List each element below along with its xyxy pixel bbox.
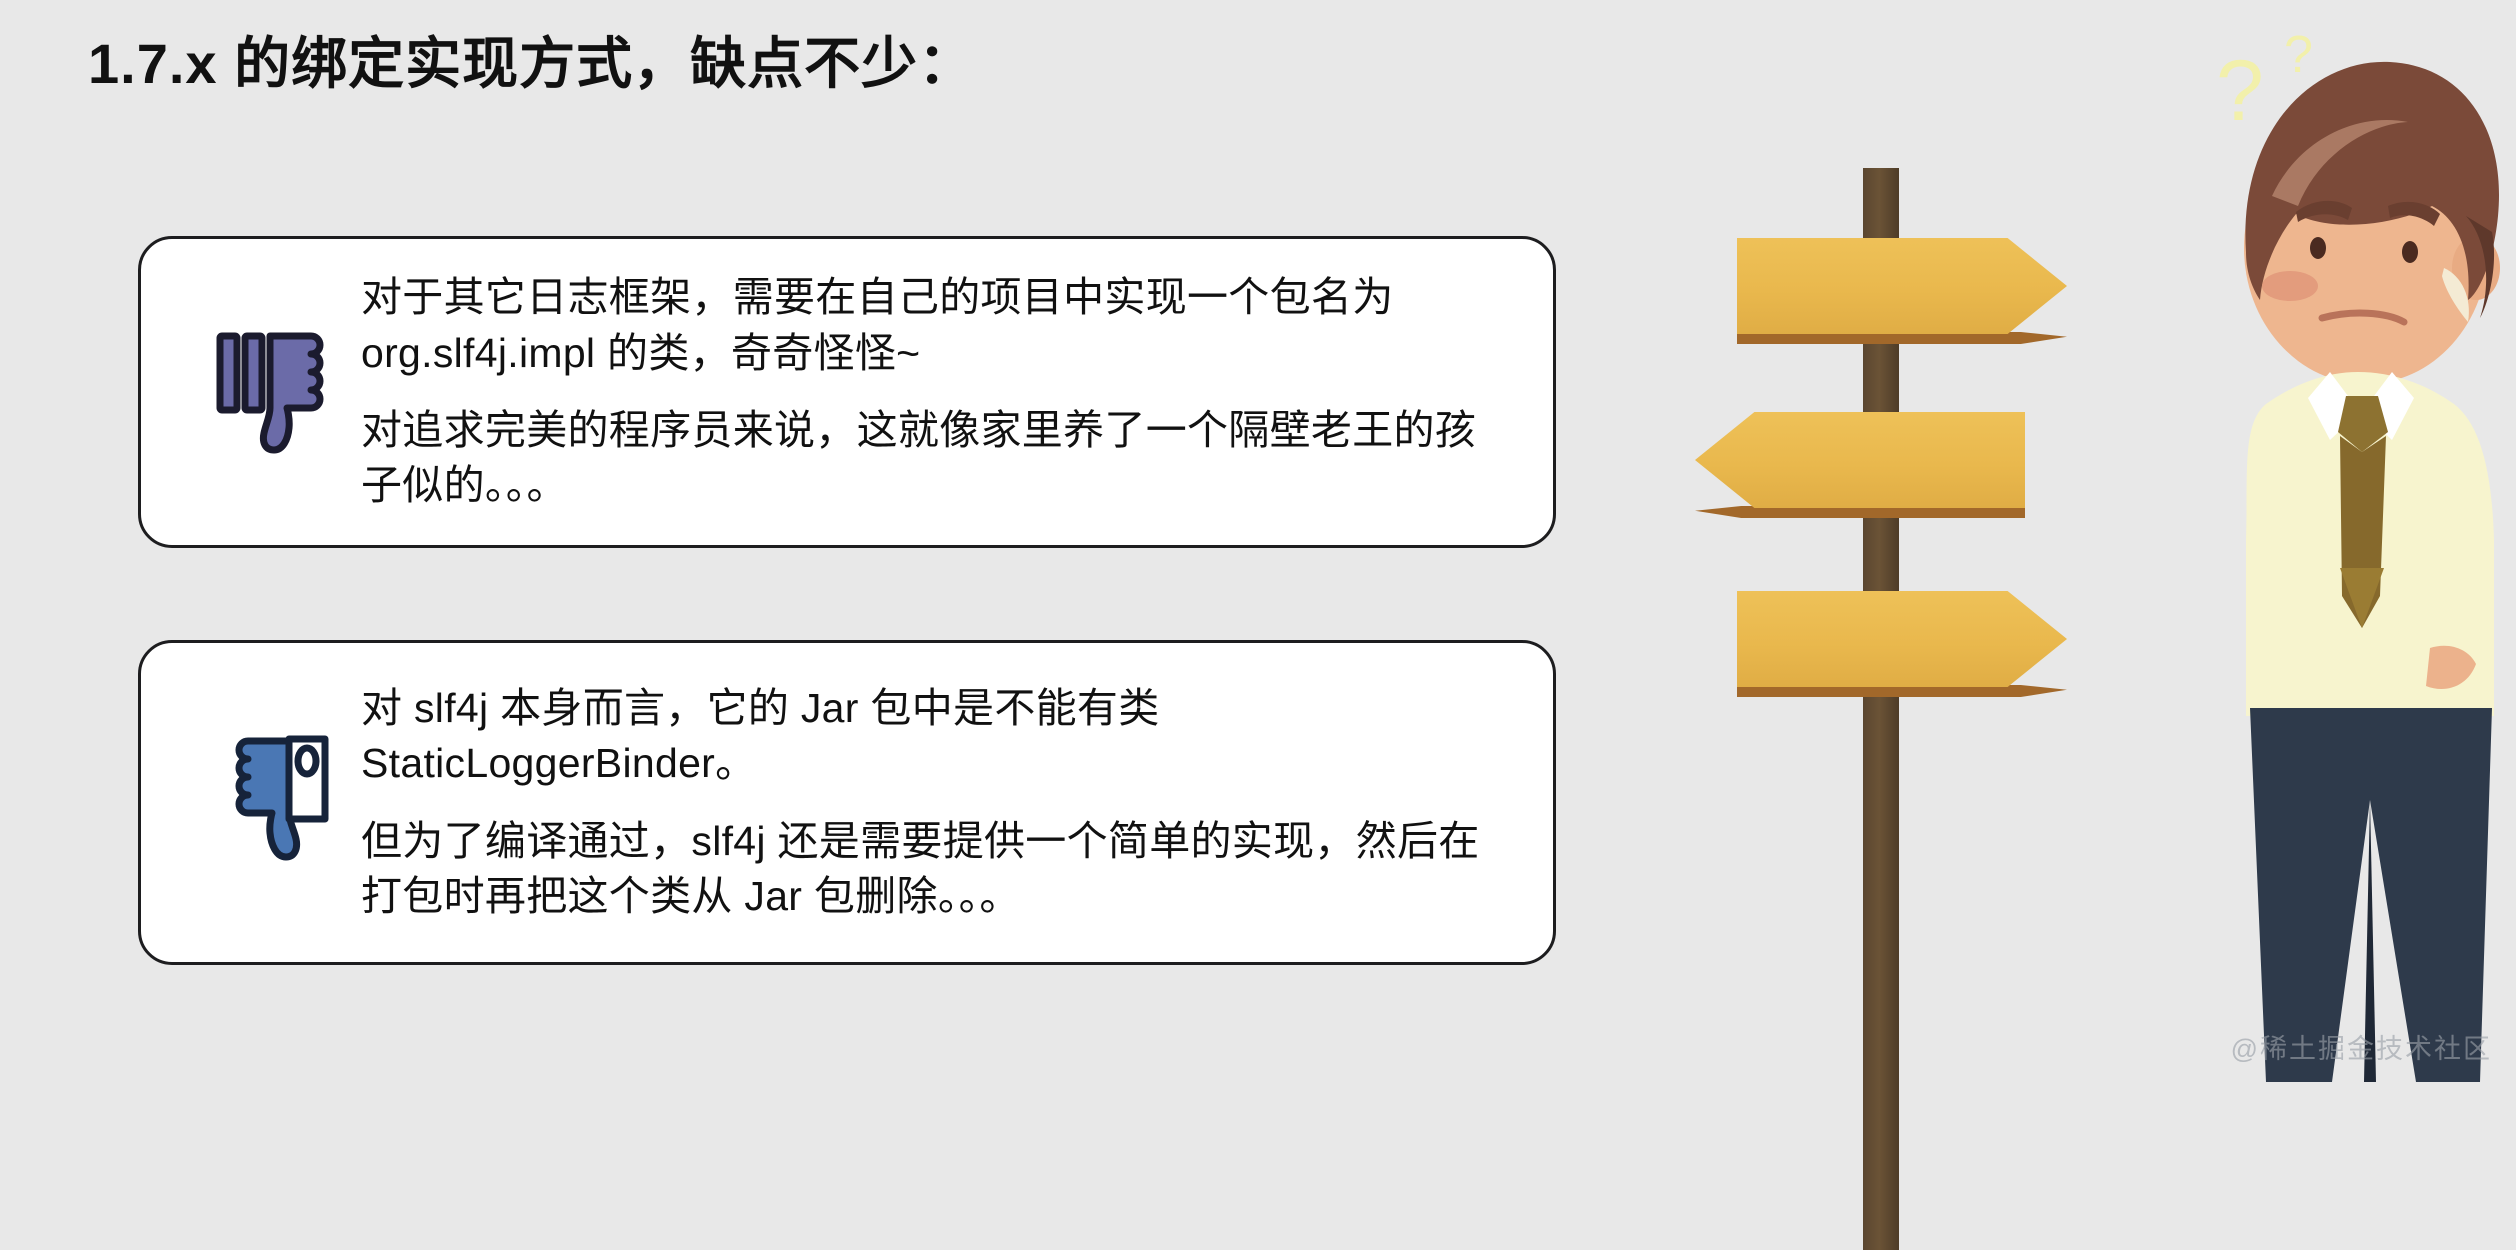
watermark: @稀土掘金技术社区 [2231, 1027, 2492, 1066]
svg-text:?: ? [2284, 26, 2313, 84]
sign-plank [1695, 412, 2025, 508]
card-2-text: 对 slf4j 本身而言，它的 Jar 包中是不能有类 StaticLogger… [361, 681, 1553, 924]
paragraph: 但为了编译通过，slf4j 还是需要提供一个简单的实现，然后在打包时再把这个类从… [361, 814, 1493, 925]
signpost-sign-top [1737, 238, 2067, 334]
card-1-text: 对于其它日志框架，需要在自己的项目中实现一个包名为 org.slf4j.impl… [361, 270, 1553, 513]
confused-man-illustration: ? ? [2180, 0, 2516, 1082]
paragraph: 对 slf4j 本身而言，它的 Jar 包中是不能有类 StaticLogger… [361, 681, 1493, 792]
paragraph: 对追求完美的程序员来说，这就像家里养了一个隔壁老王的孩子似的。。。 [361, 403, 1493, 514]
signpost-sign-bottom [1737, 591, 2067, 687]
sign-plank [1737, 238, 2067, 334]
bullet-card-2: 对 slf4j 本身而言，它的 Jar 包中是不能有类 StaticLogger… [138, 640, 1556, 965]
bullet-card-1: 对于其它日志框架，需要在自己的项目中实现一个包名为 org.slf4j.impl… [138, 236, 1556, 548]
signpost-sign-middle [1695, 412, 2025, 508]
thumbs-down-icon [209, 733, 339, 873]
svg-text:?: ? [2216, 43, 2264, 139]
thumbs-down-icon [209, 328, 339, 456]
paragraph: 对于其它日志框架，需要在自己的项目中实现一个包名为 org.slf4j.impl… [361, 270, 1493, 381]
slide-canvas: 1.7.x 的绑定实现方式，缺点不少： 对于其它日志框架，需要在自己的项目中实现… [0, 0, 2516, 1082]
page-title: 1.7.x 的绑定实现方式，缺点不少： [88, 30, 975, 97]
sign-plank [1737, 591, 2067, 687]
